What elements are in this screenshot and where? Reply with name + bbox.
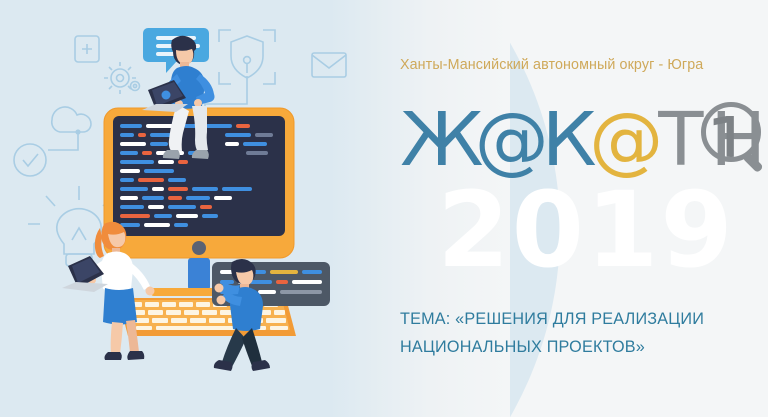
hero-illustration xyxy=(0,0,400,417)
magnifier-lens: 1001 00100 0100 xyxy=(701,102,761,162)
magnifier-icon: 1001 00100 0100 xyxy=(696,100,720,180)
cloud-icon xyxy=(48,107,91,150)
check-circle-icon xyxy=(14,144,46,176)
logo-letter-k: К xyxy=(541,103,596,177)
logo-letter-zh: Ж xyxy=(400,103,484,177)
magnifier-binary-text: 1001 00100 0100 xyxy=(705,108,761,162)
gear-icon xyxy=(104,62,140,94)
theme-line-1: ТЕМА: «РЕШЕНИЯ ДЛЯ РЕАЛИЗАЦИИ xyxy=(400,305,766,333)
envelope-icon xyxy=(312,53,346,77)
region-title: Ханты-Мансийский автономный округ - Югра xyxy=(400,57,766,73)
text-column: Ханты-Мансийский автономный округ - Югра… xyxy=(398,0,768,417)
logo-letter-at-gold: @ xyxy=(589,103,663,177)
logo-letter-at-blue: @ xyxy=(475,103,549,177)
theme-line-2: НАЦИОНАЛЬНЫХ ПРОЕКТОВ» xyxy=(400,333,766,361)
binary-line-1: 1001 xyxy=(705,108,761,162)
year-2019: 2019 xyxy=(406,178,766,282)
plus-square-icon xyxy=(75,36,99,62)
hackathon-poster: Ханты-Мансийский автономный округ - Югра… xyxy=(0,0,768,417)
theme-statement: ТЕМА: «РЕШЕНИЯ ДЛЯ РЕАЛИЗАЦИИ НАЦИОНАЛЬН… xyxy=(400,305,766,361)
